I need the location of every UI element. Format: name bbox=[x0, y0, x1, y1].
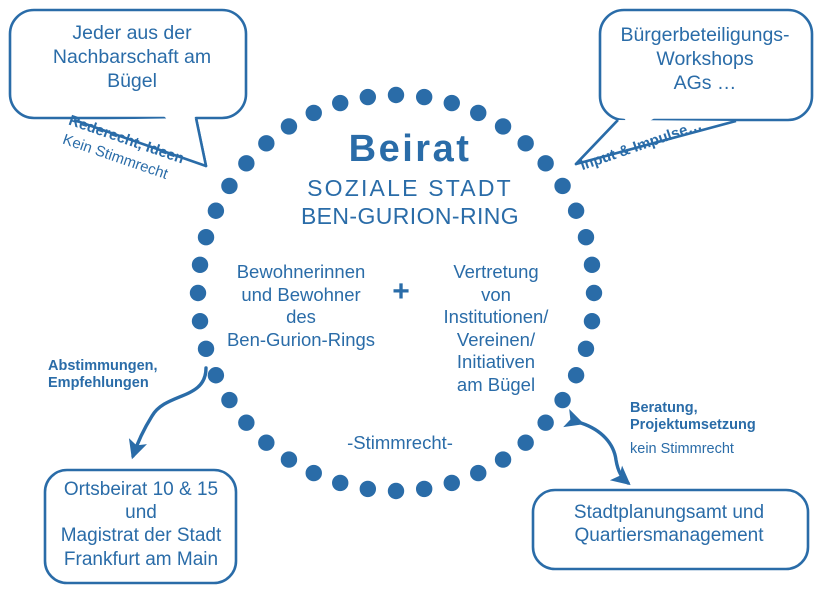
ring-dot bbox=[306, 105, 322, 121]
ring-dot bbox=[306, 465, 322, 481]
ring-dot bbox=[586, 285, 602, 301]
plus-icon: + bbox=[386, 277, 416, 307]
subtitle-ben-gurion-ring: BEN-GURION-RING bbox=[0, 205, 820, 228]
subtitle-soziale-stadt: SOZIALE STADT bbox=[0, 177, 820, 200]
ring-dot bbox=[578, 229, 594, 245]
bubble-top-right-label: Bürgerbeteiligungs- Workshops AGs … bbox=[606, 24, 804, 95]
ring-dot bbox=[416, 89, 432, 105]
ring-dot bbox=[388, 87, 404, 103]
ring-dot bbox=[360, 481, 376, 497]
ring-dot bbox=[517, 434, 533, 450]
ring-dot bbox=[360, 89, 376, 105]
ring-dot bbox=[584, 313, 600, 329]
ring-dot bbox=[332, 475, 348, 491]
ring-dot bbox=[416, 481, 432, 497]
arrow-ring-to-stadtplanungsamt bbox=[581, 423, 628, 483]
bubble-top-left-label: Jeder aus der Nachbarschaft am Bügel bbox=[26, 22, 238, 93]
ring-dot bbox=[332, 95, 348, 111]
ring-dot bbox=[470, 105, 486, 121]
ring-dot bbox=[537, 414, 553, 430]
ring-dot bbox=[198, 341, 214, 357]
connector-label-kein-stimmrecht-right: kein Stimmrecht bbox=[630, 441, 734, 458]
ring-dot bbox=[192, 313, 208, 329]
ring-dot bbox=[470, 465, 486, 481]
ring-dot bbox=[208, 367, 224, 383]
ring-dot bbox=[192, 257, 208, 273]
ring-dot bbox=[584, 257, 600, 273]
ring-dot bbox=[281, 451, 297, 467]
ring-dot bbox=[238, 414, 254, 430]
connector-label-abstimmungen: Abstimmungen, Empfehlungen bbox=[48, 358, 158, 393]
ring-dot bbox=[444, 95, 460, 111]
connector-label-beratung: Beratung, Projektumsetzung bbox=[630, 400, 756, 435]
ring-dot bbox=[198, 229, 214, 245]
center-column-residents: Bewohnerinnen und Bewohner des Ben-Gurio… bbox=[215, 261, 387, 351]
center-column-institutions: Vertretung von Institutionen/ Vereinen/ … bbox=[417, 261, 575, 396]
ring-dot bbox=[190, 285, 206, 301]
diagram-canvas: Beirat SOZIALE STADT BEN-GURION-RING Bew… bbox=[0, 0, 820, 600]
voting-rights-note: -Stimmrecht- bbox=[300, 432, 500, 455]
ring-dot bbox=[258, 434, 274, 450]
box-bottom-right-label: Stadtplanungsamt und Quartiersmanagement bbox=[540, 501, 798, 547]
ring-dot bbox=[388, 483, 404, 499]
box-bottom-left-label: Ortsbeirat 10 & 15 und Magistrat der Sta… bbox=[48, 478, 234, 571]
ring-dot bbox=[444, 475, 460, 491]
ring-dot bbox=[221, 392, 237, 408]
ring-dot bbox=[578, 341, 594, 357]
